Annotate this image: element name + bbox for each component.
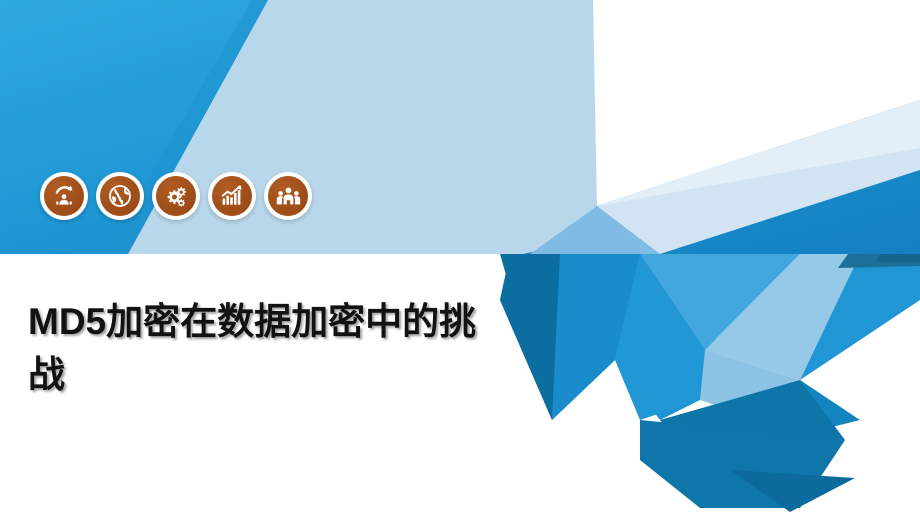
icon-row [40,172,312,220]
bar-chart-growth-icon [212,176,252,216]
gears-icon [156,176,196,216]
icon-badge-people-group[interactable] [264,172,312,220]
icon-badge-bar-chart-growth[interactable] [208,172,256,220]
globe-icon [100,176,140,216]
page-title: MD5加密在数据加密中的挑战 [28,296,498,401]
icon-badge-recycle-person[interactable] [40,172,88,220]
poly-right-edge-strip-2 [876,254,920,262]
recycle-person-icon [44,176,84,216]
slide-canvas: 数智创新 变革未来 [0,0,920,518]
people-group-icon [268,176,308,216]
poly-deep-left-b [500,254,560,420]
background-decoration [0,0,920,518]
icon-badge-globe[interactable] [96,172,144,220]
banner-tagline: 数智创新 变革未来 [705,26,896,58]
icon-badge-gears[interactable] [152,172,200,220]
